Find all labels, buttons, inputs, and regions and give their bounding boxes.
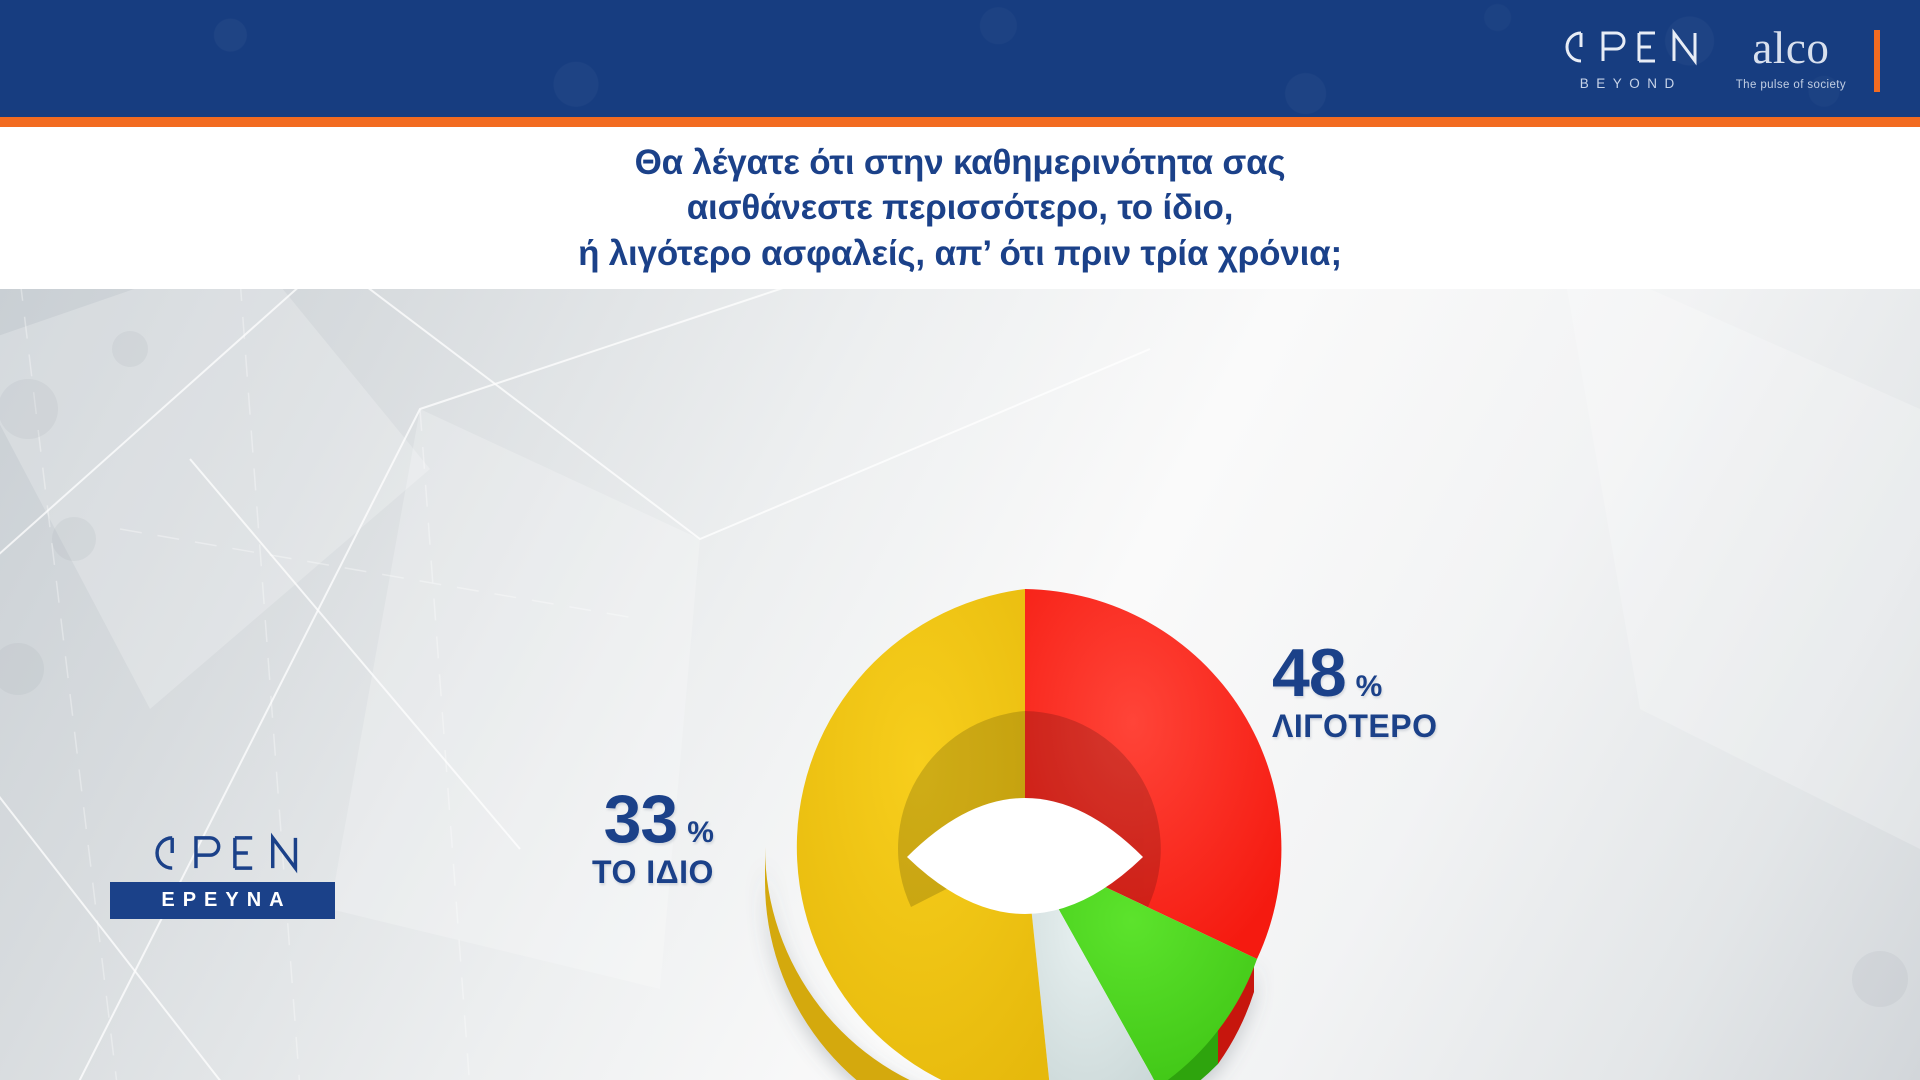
orange-accent-bar: [1874, 30, 1880, 92]
caption-less: ΛΙΓΟΤΕΡΟ: [1272, 708, 1437, 745]
value-less: 48: [1272, 641, 1346, 706]
question-title-band: Θα λέγατε ότι στην καθημερινότητα σας αι…: [0, 127, 1920, 289]
alco-tagline: The pulse of society: [1736, 79, 1846, 91]
alco-wordmark: alco: [1752, 26, 1829, 71]
percent-symbol-same: %: [687, 816, 714, 850]
percent-symbol-less: %: [1356, 670, 1383, 704]
question-line-2: αισθάνεστε περισσότερο, το ίδιο,: [687, 185, 1234, 231]
chart-body-area: ΕΡΕΥΝΑ: [0, 289, 1920, 1080]
caption-same: ΤΟ ΙΔΙΟ: [592, 854, 714, 891]
question-line-3: ή λιγότερο ασφαλείς, απ’ ότι πριν τρία χ…: [578, 231, 1342, 277]
header-logo-group: BEYOND alco The pulse of society: [1554, 0, 1880, 117]
open-wordmark: [1554, 27, 1702, 67]
open-beyond-logo: BEYOND: [1554, 27, 1702, 91]
donut-chart: [735, 589, 1315, 1080]
open-ereyna-watermark: ΕΡΕΥΝΑ: [110, 831, 335, 919]
data-label-less: 48 % ΛΙΓΟΤΕΡΟ: [1272, 641, 1437, 745]
watermark-ereyna-label: ΕΡΕΥΝΑ: [110, 882, 335, 919]
beyond-wordmark: BEYOND: [1580, 76, 1682, 91]
value-same: 33: [604, 787, 678, 852]
question-line-1: Θα λέγατε ότι στην καθημερινότητα σας: [635, 140, 1286, 186]
orange-divider-rule: [0, 117, 1920, 127]
watermark-open-wordmark: [110, 831, 335, 875]
header-bar: BEYOND alco The pulse of society: [0, 0, 1920, 117]
alco-logo: alco The pulse of society: [1736, 26, 1846, 91]
poll-result-slide: BEYOND alco The pulse of society Θα λέγα…: [0, 0, 1920, 1080]
data-label-same: 33 % ΤΟ ΙΔΙΟ: [592, 787, 714, 891]
